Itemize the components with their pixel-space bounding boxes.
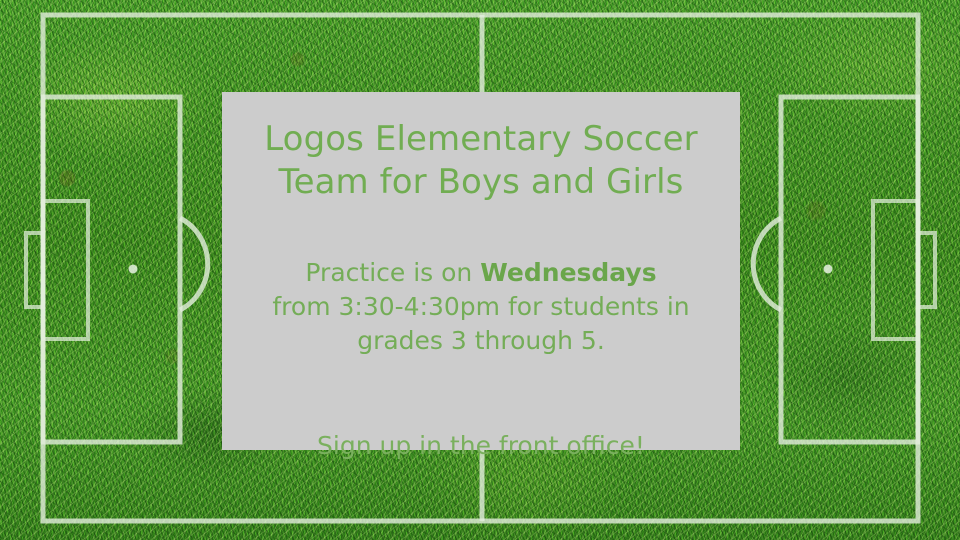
practice-time-line: from 3:30-4:30pm for students in [272, 290, 689, 324]
left-penalty-spot [129, 265, 138, 274]
right-penalty-spot [824, 265, 833, 274]
practice-grades-line: grades 3 through 5. [272, 324, 689, 358]
page-title-line-2: Team for Boys and Girls [264, 161, 698, 204]
practice-day-emphasis: Wednesdays [480, 258, 656, 287]
page-title-line-1: Logos Elementary Soccer [264, 118, 698, 161]
left-penalty-area [43, 97, 180, 442]
right-goal-net [918, 233, 935, 307]
practice-day-line: Practice is on Wednesdays [272, 256, 689, 290]
right-penalty-area [781, 97, 918, 442]
left-penalty-arc [180, 218, 208, 310]
practice-details: Practice is on Wednesdays from 3:30-4:30… [272, 256, 689, 358]
soccer-flyer-poster: Logos Elementary Soccer Team for Boys an… [0, 0, 960, 540]
left-goal-net [26, 233, 43, 307]
left-goal-area [43, 201, 88, 339]
page-title: Logos Elementary Soccer Team for Boys an… [264, 118, 698, 204]
right-penalty-arc [753, 218, 781, 310]
signup-instruction: Sign up in the front office! [317, 429, 645, 463]
practice-day-prefix: Practice is on [305, 258, 480, 287]
right-goal-area [873, 201, 918, 339]
announcement-card: Logos Elementary Soccer Team for Boys an… [222, 92, 740, 450]
